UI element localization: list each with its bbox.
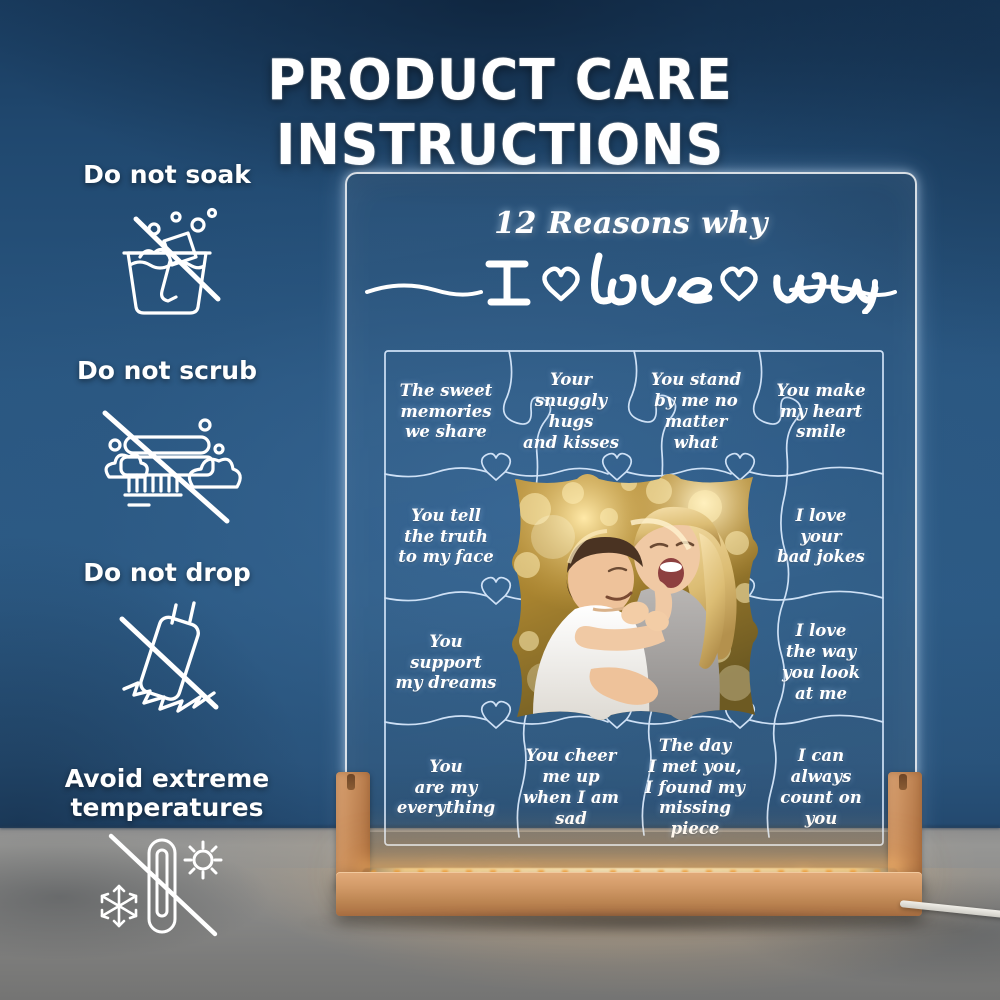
care-label: Do not scrub: [12, 356, 322, 385]
plaque-heading-small: 12 Reasons why: [347, 206, 915, 241]
puzzle-piece-4: You makemy heartsmile: [762, 360, 880, 464]
care-label-line-2: temperatures: [12, 793, 322, 822]
puzzle-piece-2: Yoursnugglyhugsand kisses: [512, 354, 630, 470]
page-title: PRODUCT CARE INSTRUCTIONS: [35, 48, 965, 178]
care-item-avoid-extreme-temperatures: Avoid extreme temperatures: [12, 764, 322, 964]
no-scrub-icon: [85, 391, 250, 531]
care-label: Do not soak: [12, 160, 322, 189]
puzzle-piece-7: Yousupportmy dreams: [386, 612, 506, 714]
care-label: Do not drop: [12, 558, 322, 587]
puzzle-piece-8: I lovethe wayyou lookat me: [762, 606, 880, 720]
no-drop-icon: [90, 593, 245, 733]
puzzle-piece-6: I loveyourbad jokes: [762, 486, 880, 588]
stand-shadow: [300, 910, 980, 936]
care-label-line-1: Avoid extreme: [12, 764, 322, 793]
stand-slot-right: [899, 774, 907, 790]
no-soak-icon: [92, 195, 242, 330]
stand-slot-left: [347, 774, 355, 790]
puzzle-piece-5: You tellthe truthto my face: [386, 486, 506, 588]
couple-photo: [509, 473, 759, 723]
no-extreme-temperature-icon: [85, 828, 250, 943]
puzzle-piece-3: You standby me nomatter what: [636, 360, 756, 464]
care-instruction-list: Do not soak Do not scrub: [12, 160, 322, 970]
plaque-heading-main: [347, 242, 915, 308]
care-item-do-not-drop: Do not drop: [12, 558, 322, 758]
care-item-do-not-scrub: Do not scrub: [12, 356, 322, 552]
product-scene: PRODUCT CARE INSTRUCTIONS Do not soak: [0, 0, 1000, 1000]
care-item-do-not-soak: Do not soak: [12, 160, 322, 350]
wooden-stand: [340, 772, 922, 922]
puzzle-piece-1: The sweetmemorieswe share: [386, 360, 506, 464]
acrylic-plaque: 12 Reasons why: [340, 168, 922, 910]
